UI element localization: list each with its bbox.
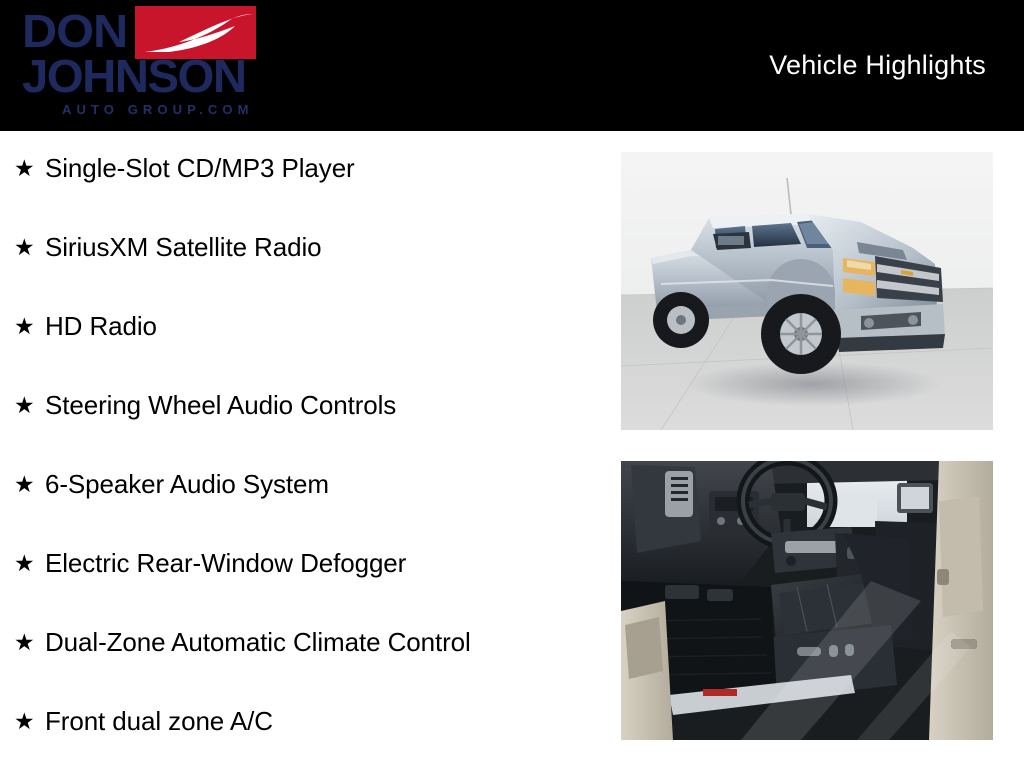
list-item-label: Dual-Zone Automatic Climate Control: [45, 627, 471, 657]
star-bullet-icon: ★: [14, 710, 45, 733]
vehicle-highlights-list: ★ Single-Slot CD/MP3 Player ★ SiriusXM S…: [0, 131, 600, 768]
list-item: ★ Dual-Zone Automatic Climate Control: [14, 625, 471, 659]
star-bullet-icon: ★: [14, 473, 45, 496]
exterior-photo[interactable]: [621, 152, 993, 430]
list-item: ★ SiriusXM Satellite Radio: [14, 230, 322, 264]
star-bullet-icon: ★: [14, 394, 45, 417]
list-item-label: Single-Slot CD/MP3 Player: [45, 153, 355, 183]
dealer-logo[interactable]: DON JOHNSON AUTO GROUP.COM: [22, 4, 270, 128]
star-bullet-icon: ★: [14, 315, 45, 338]
list-item-label: Steering Wheel Audio Controls: [45, 390, 396, 420]
logo-line-don: DON: [22, 8, 127, 54]
logo-line-johnson: JOHNSON: [22, 53, 245, 99]
list-item-label: Electric Rear-Window Defogger: [45, 548, 406, 578]
list-item-label: HD Radio: [45, 311, 157, 341]
star-bullet-icon: ★: [14, 236, 45, 259]
star-bullet-icon: ★: [14, 552, 45, 575]
logo-tagline: AUTO GROUP.COM: [62, 103, 254, 117]
page-header: DON JOHNSON AUTO GROUP.COM Vehicle Highl…: [0, 0, 1024, 131]
list-item: ★ Electric Rear-Window Defogger: [14, 546, 406, 580]
list-item: ★ Single-Slot CD/MP3 Player: [14, 151, 355, 185]
star-bullet-icon: ★: [14, 631, 45, 654]
list-item: ★ Front dual zone A/C: [14, 704, 273, 738]
list-item-label: Front dual zone A/C: [45, 706, 273, 736]
interior-photo[interactable]: [621, 461, 993, 740]
list-item-label: 6-Speaker Audio System: [45, 469, 329, 499]
list-item-label: SiriusXM Satellite Radio: [45, 232, 322, 262]
page-title: Vehicle Highlights: [769, 50, 986, 81]
star-bullet-icon: ★: [14, 157, 45, 180]
list-item: ★ Steering Wheel Audio Controls: [14, 388, 396, 422]
list-item: ★ HD Radio: [14, 309, 157, 343]
list-item: ★ 6-Speaker Audio System: [14, 467, 329, 501]
